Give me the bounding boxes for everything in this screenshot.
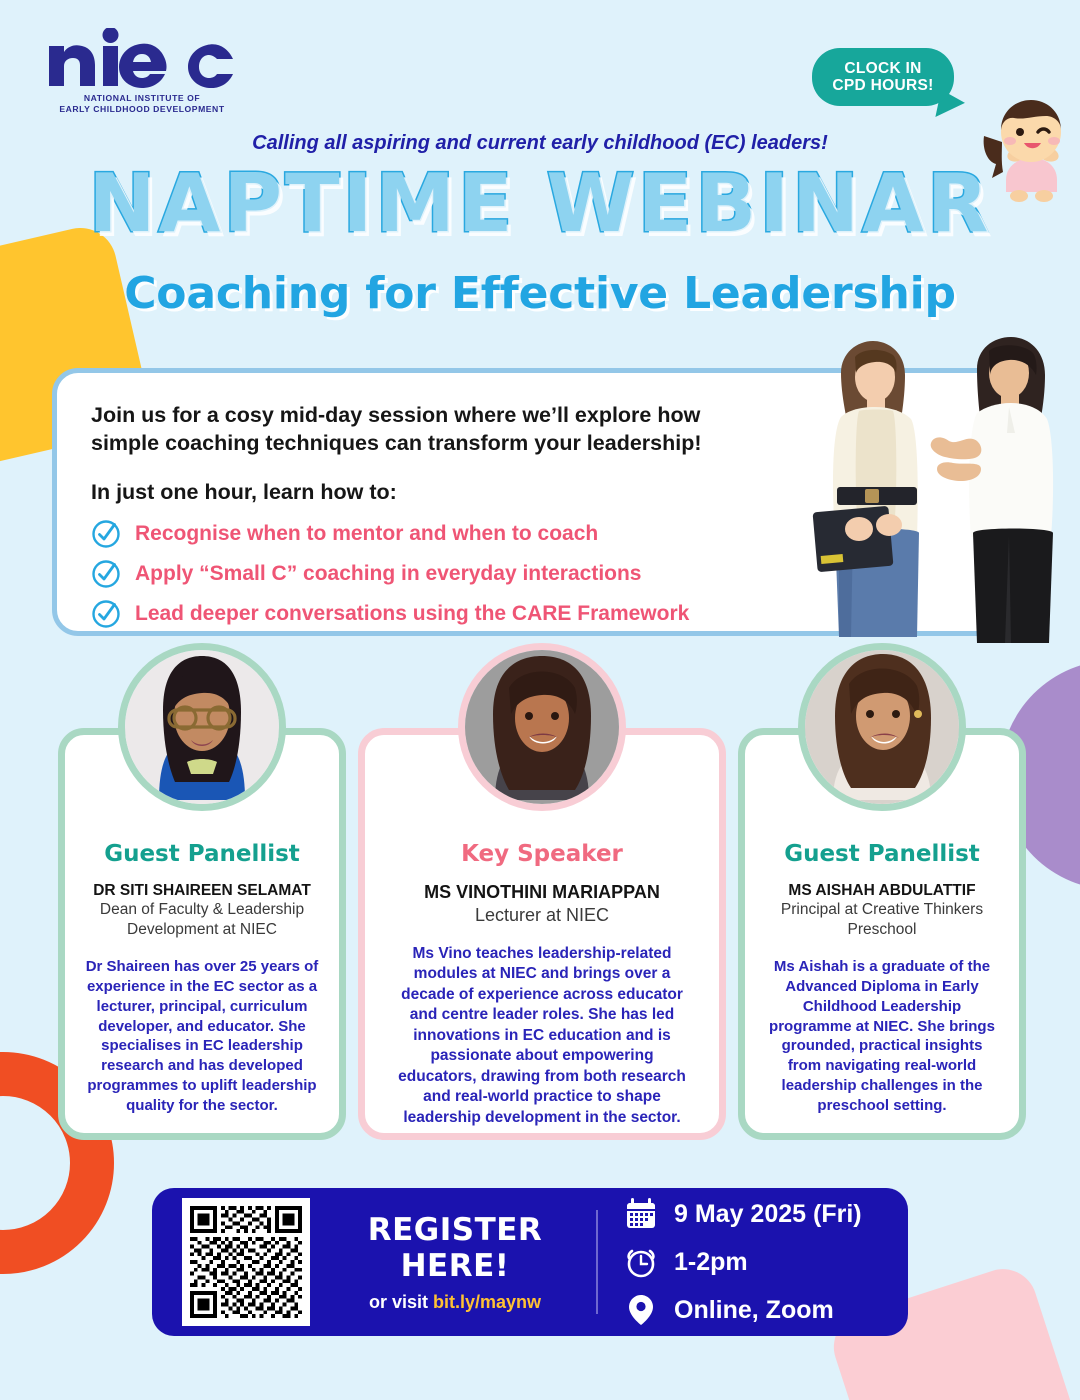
speaker-card-2: Key Speaker MS VINOTHINI MARIAPPAN Lectu… (358, 728, 726, 1140)
cpd-badge-text: CLOCK INCPD HOURS! (832, 60, 933, 95)
avatar (118, 643, 286, 811)
event-time-row: 1-2pm (624, 1245, 862, 1279)
speaker-role: Guest Panellist (759, 841, 1005, 867)
avatar (458, 643, 626, 811)
speaker-bio: Ms Vino teaches leadership-related modul… (379, 944, 705, 1128)
visit-prefix: or visit (369, 1292, 433, 1312)
intro-learn-heading: In just one hour, learn how to: (91, 480, 731, 505)
event-date: 9 May 2025 (Fri) (674, 1200, 862, 1229)
speaker-role: Guest Panellist (79, 841, 325, 867)
intro-card: Join us for a cosy mid-day session where… (52, 368, 1018, 636)
register-title: REGISTER HERE! (320, 1212, 590, 1284)
event-date-row: 9 May 2025 (Fri) (624, 1197, 862, 1231)
learning-outcomes-list: Recognise when to mentor and when to coa… (91, 519, 731, 629)
location-pin-icon (624, 1293, 658, 1327)
speaker-name: DR SITI SHAIREEN SELAMAT (79, 881, 325, 900)
tagline: Calling all aspiring and current early c… (0, 132, 1080, 155)
speaker-bio: Dr Shaireen has over 25 years of experie… (79, 957, 325, 1115)
speaker-card-3: Guest Panellist MS AISHAH ABDULATTIF Pri… (738, 728, 1026, 1140)
check-circle-icon (91, 519, 121, 549)
calendar-icon (624, 1197, 658, 1231)
speaker-title: Principal at Creative Thinkers Preschool (759, 900, 1005, 939)
list-item: Recognise when to mentor and when to coa… (91, 519, 731, 549)
outcome-text: Recognise when to mentor and when to coa… (135, 521, 598, 546)
qr-code-icon (190, 1206, 302, 1318)
event-location-row: Online, Zoom (624, 1293, 862, 1327)
logo-subtitle: NATIONAL INSTITUTE OF EARLY CHILDHOOD DE… (47, 93, 237, 115)
register-visit-line: or visit bit.ly/maynw (320, 1292, 590, 1313)
intro-lead-text: Join us for a cosy mid-day session where… (91, 401, 731, 458)
niec-wordmark-icon (47, 28, 237, 88)
cpd-badge: CLOCK INCPD HOURS! (812, 48, 954, 106)
qr-code[interactable] (182, 1198, 310, 1326)
poster-canvas: NATIONAL INSTITUTE OF EARLY CHILDHOOD DE… (0, 0, 1080, 1400)
page-title: NAPTIME WEBINAR (0, 164, 1080, 244)
page-subtitle: Coaching for Effective Leadership (0, 268, 1080, 319)
speaker-title: Dean of Faculty & Leadership Development… (79, 900, 325, 939)
check-circle-icon (91, 559, 121, 589)
outcome-text: Apply “Small C” coaching in everyday int… (135, 561, 641, 586)
check-circle-icon (91, 599, 121, 629)
event-location: Online, Zoom (674, 1296, 834, 1325)
speakers-section: Guest Panellist DR SITI SHAIREEN SELAMAT… (0, 700, 1080, 1140)
speaker-role: Key Speaker (379, 841, 705, 867)
register-link[interactable]: bit.ly/maynw (433, 1292, 541, 1312)
clock-icon (624, 1245, 658, 1279)
outcome-text: Lead deeper conversations using the CARE… (135, 601, 689, 626)
speaker-title: Lecturer at NIEC (379, 904, 705, 927)
event-details: 9 May 2025 (Fri) 1-2pm Online, Zoom (624, 1197, 862, 1327)
niec-logo: NATIONAL INSTITUTE OF EARLY CHILDHOOD DE… (47, 28, 237, 115)
speaker-card-1: Guest Panellist DR SITI SHAIREEN SELAMAT… (58, 728, 346, 1140)
two-women-conversation-photo (801, 337, 1073, 649)
list-item: Lead deeper conversations using the CARE… (91, 599, 731, 629)
avatar (798, 643, 966, 811)
registration-banner: REGISTER HERE! or visit bit.ly/maynw (152, 1188, 908, 1336)
list-item: Apply “Small C” coaching in everyday int… (91, 559, 731, 589)
event-time: 1-2pm (674, 1248, 748, 1277)
speaker-bio: Ms Aishah is a graduate of the Advanced … (759, 957, 1005, 1115)
speaker-name: MS AISHAH ABDULATTIF (759, 881, 1005, 900)
register-text-block: REGISTER HERE! or visit bit.ly/maynw (320, 1212, 590, 1313)
speaker-name: MS VINOTHINI MARIAPPAN (379, 881, 705, 904)
banner-divider (596, 1210, 598, 1314)
